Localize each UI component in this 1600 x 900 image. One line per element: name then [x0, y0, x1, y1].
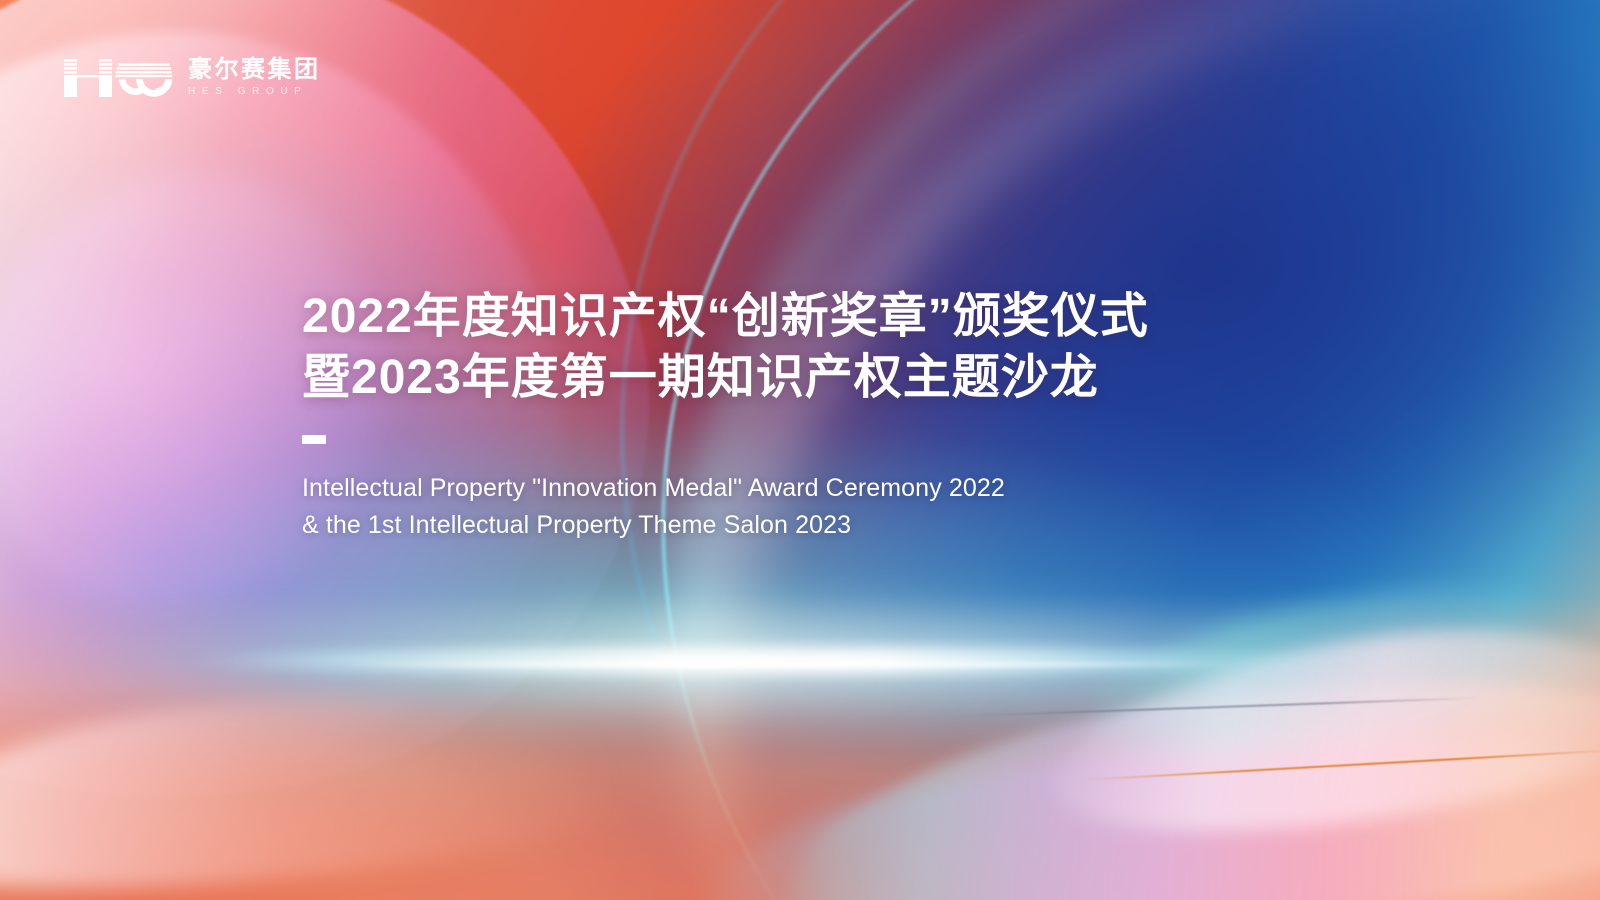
banner-text-block: 2022年度知识产权“创新奖章”颁奖仪式 暨2023年度第一期知识产权主题沙龙 … — [302, 286, 1302, 544]
page-title-line-2: 暨2023年度第一期知识产权主题沙龙 — [302, 347, 1302, 408]
page-title-line-1: 2022年度知识产权“创新奖章”颁奖仪式 — [302, 286, 1302, 347]
page-subtitle-line-2: & the 1st Intellectual Property Theme Sa… — [302, 507, 1302, 544]
title-divider — [302, 435, 326, 444]
page-subtitle-line-1: Intellectual Property "Innovation Medal"… — [302, 470, 1302, 507]
light-beam-thin — [340, 662, 1240, 667]
brand-name-en: HES GROUP — [188, 84, 321, 100]
event-banner: 豪尔赛集团 HES GROUP 2022年度知识产权“创新奖章”颁奖仪式 暨20… — [0, 0, 1600, 900]
logo-wordmark: 豪尔赛集团 HES GROUP — [188, 55, 321, 100]
brand-logo[interactable]: 豪尔赛集团 HES GROUP — [62, 55, 321, 100]
hes-monogram-icon — [62, 57, 174, 99]
light-beam-core — [180, 648, 1340, 674]
brand-name-cn: 豪尔赛集团 — [188, 57, 321, 82]
